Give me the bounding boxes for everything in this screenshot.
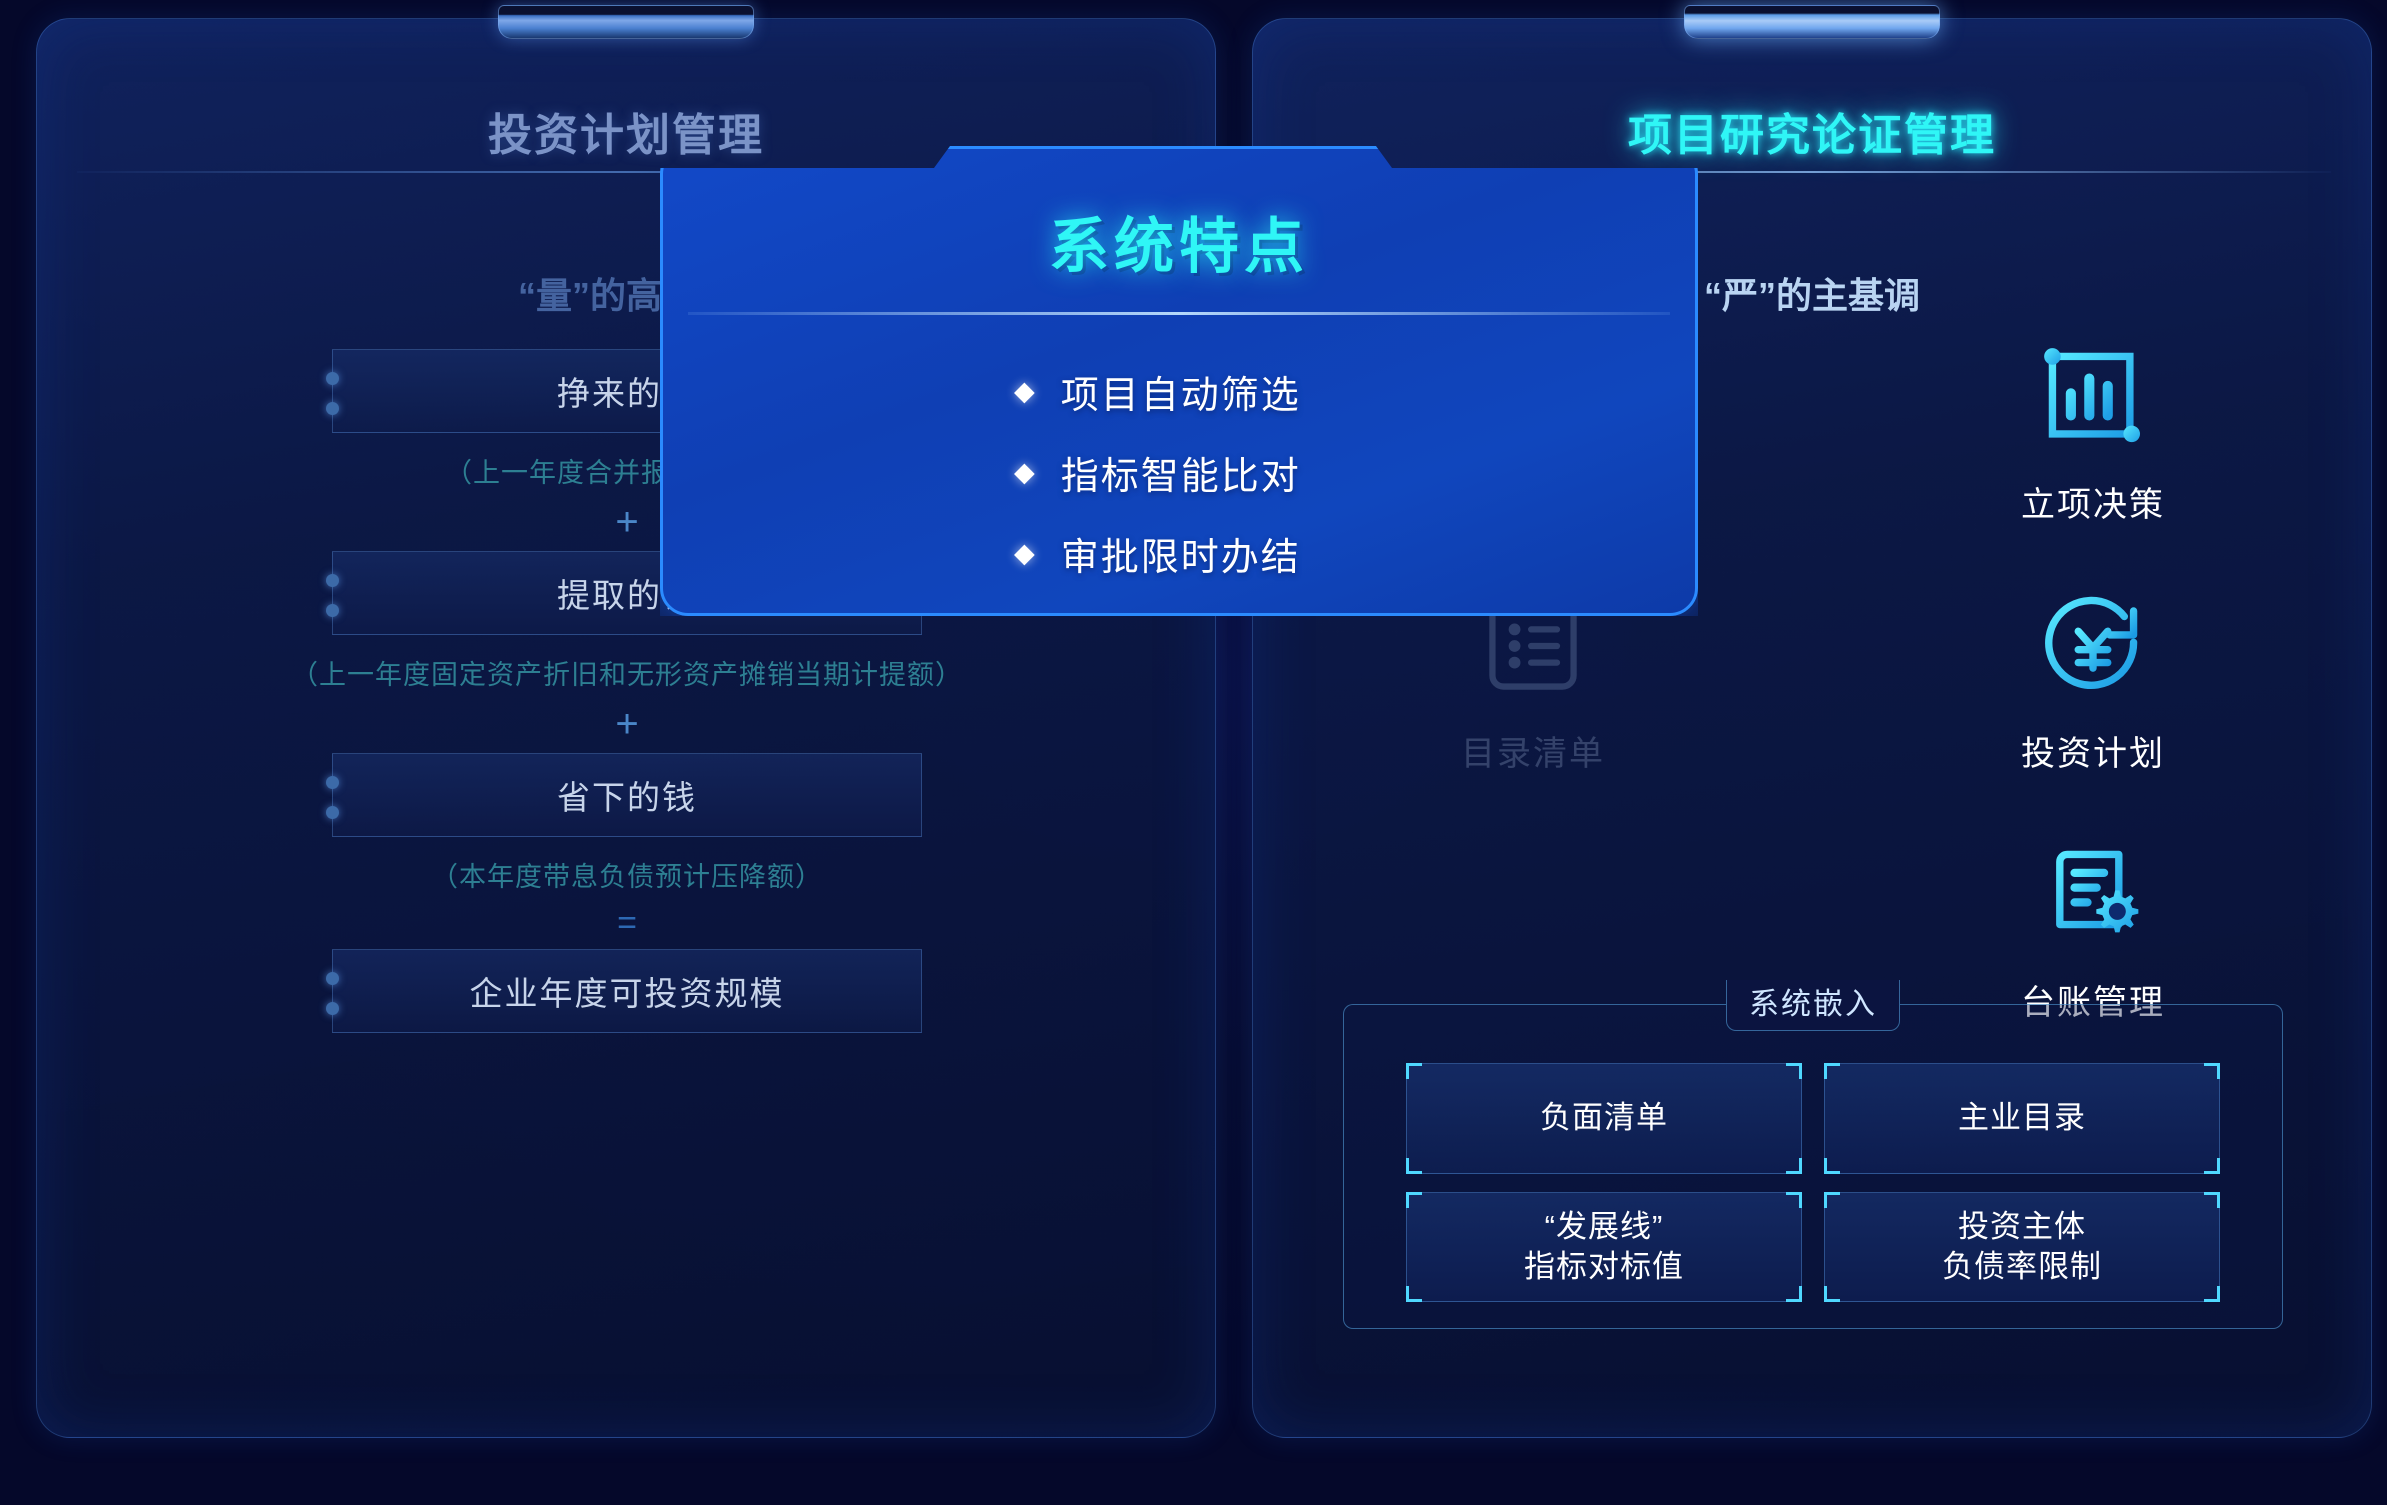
corner-bracket-icon (2204, 1158, 2220, 1174)
module-project-decision[interactable]: 立项决策 (1813, 335, 2373, 526)
flow-box: 省下的钱 (332, 753, 922, 837)
corner-bracket-icon (1406, 1063, 1422, 1079)
yuan-refresh-icon (2034, 584, 2152, 708)
system-embed-legend: 系统嵌入 (1726, 980, 1900, 1031)
module-label: 投资计划 (2021, 726, 2165, 775)
flow-note: （本年度带息负债预计压降额） (37, 855, 1217, 894)
corner-bracket-icon (2204, 1286, 2220, 1302)
embed-cell-label: 主业目录 (1958, 1098, 2086, 1138)
embed-cell-label: “发展线” 指标对标值 (1524, 1207, 1684, 1286)
corner-bracket-icon (2204, 1192, 2220, 1208)
system-features-modal (660, 146, 1698, 616)
embed-cell[interactable]: 负面清单 (1406, 1063, 1802, 1174)
corner-bracket-icon (1824, 1063, 1840, 1079)
module-investment-plan[interactable]: 投资计划 (1813, 584, 2373, 775)
corner-bracket-icon (1786, 1286, 1802, 1302)
corner-bracket-icon (1406, 1192, 1422, 1208)
flow-note: （上一年度固定资产折旧和无形资产摊销当期计提额） (37, 653, 1217, 692)
corner-bracket-icon (1786, 1063, 1802, 1079)
right-panel-title: 项目研究论证管理 (1253, 99, 2371, 163)
system-embed-group: 系统嵌入 负面清单 主业目录 (1343, 1004, 2283, 1329)
corner-bracket-icon (1824, 1158, 1840, 1174)
document-gear-icon (2034, 833, 2152, 957)
corner-bracket-icon (1824, 1192, 1840, 1208)
corner-bracket-icon (2204, 1063, 2220, 1079)
flow-operator-plus: + (37, 702, 1217, 747)
corner-bracket-icon (1786, 1158, 1802, 1174)
panel-notch-left (498, 5, 754, 39)
slide-canvas: 投资计划管理 “量”的高标准 挣来的钱 （上一年度合并报表净利润） + 提取的钱… (0, 0, 2387, 1505)
embed-cell-label: 负面清单 (1540, 1098, 1668, 1138)
embed-cell[interactable]: 主业目录 (1824, 1063, 2220, 1174)
flow-box-result: 企业年度可投资规模 (332, 949, 922, 1033)
embed-cell-label: 投资主体 负债率限制 (1942, 1207, 2102, 1286)
embed-cell[interactable]: 投资主体 负债率限制 (1824, 1192, 2220, 1303)
corner-bracket-icon (1824, 1286, 1840, 1302)
panel-notch-right (1684, 5, 1940, 39)
embed-cell[interactable]: “发展线” 指标对标值 (1406, 1192, 1802, 1303)
corner-bracket-icon (1406, 1286, 1422, 1302)
module-label: 立项决策 (2021, 477, 2165, 526)
corner-bracket-icon (1406, 1158, 1422, 1174)
flow-operator-equals: = (37, 904, 1217, 943)
bar-chart-frame-icon (2034, 335, 2152, 459)
module-label: 目录清单 (1461, 726, 1605, 775)
system-embed-cells: 负面清单 主业目录 “发展线” 指标对标值 (1406, 1063, 2220, 1302)
corner-bracket-icon (1786, 1192, 1802, 1208)
